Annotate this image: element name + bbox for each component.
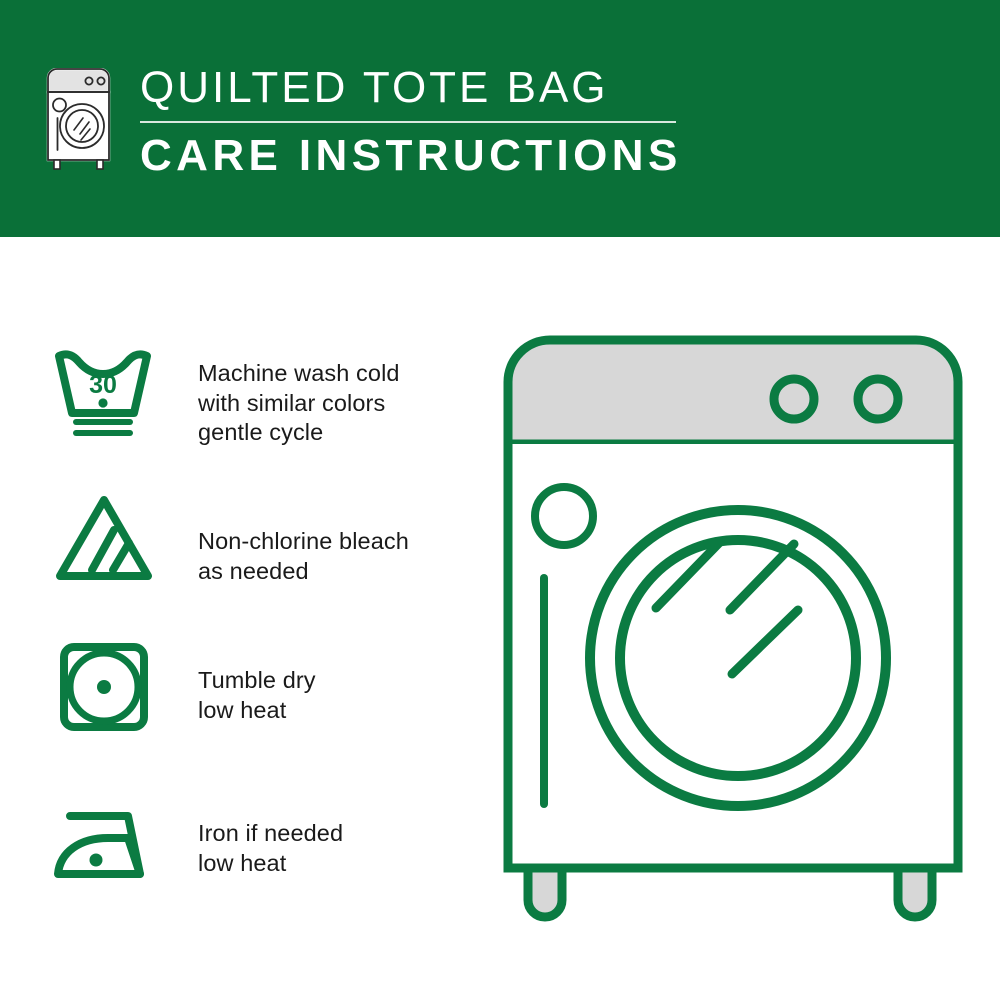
care-item-tumble-dry: Tumble dry low heat [52,641,316,733]
title-divider [140,121,676,123]
wash-temperature-label: 30 [89,371,117,399]
header-content: QUILTED TOTE BAG CARE INSTRUCTIONS [42,62,682,183]
iron-low-heat-icon [52,800,156,892]
wash-basin-30-gentle-icon: 30 [52,347,156,439]
machine-leg-left [528,868,562,917]
header-title-group: QUILTED TOTE BAG CARE INSTRUCTIONS [140,62,682,183]
care-item-label: Tumble dry low heat [198,666,316,725]
care-item-label: Iron if needed low heat [198,819,343,878]
care-item-label: Machine wash cold with similar colors ge… [198,359,400,448]
non-chlorine-bleach-triangle-icon [52,492,156,584]
header-banner: QUILTED TOTE BAG CARE INSTRUCTIONS [0,0,1000,237]
tumble-dry-low-heat-icon [52,641,156,733]
care-item-bleach: Non-chlorine bleach as needed [52,492,409,586]
care-item-label: Non-chlorine bleach as needed [198,527,409,586]
page-subtitle: CARE INSTRUCTIONS [140,129,682,183]
care-instruction-list: 30 Machine wash cold with similar colors… [0,237,490,1000]
care-item-iron: Iron if needed low heat [52,800,343,892]
machine-leg-right [898,868,932,917]
page-title: QUILTED TOTE BAG [140,62,682,114]
door-outer-ring [590,510,886,806]
front-load-washing-machine-illustration [498,330,968,930]
control-panel [508,340,958,444]
care-item-machine-wash: 30 Machine wash cold with similar colors… [52,347,400,448]
washing-machine-icon [42,68,112,174]
